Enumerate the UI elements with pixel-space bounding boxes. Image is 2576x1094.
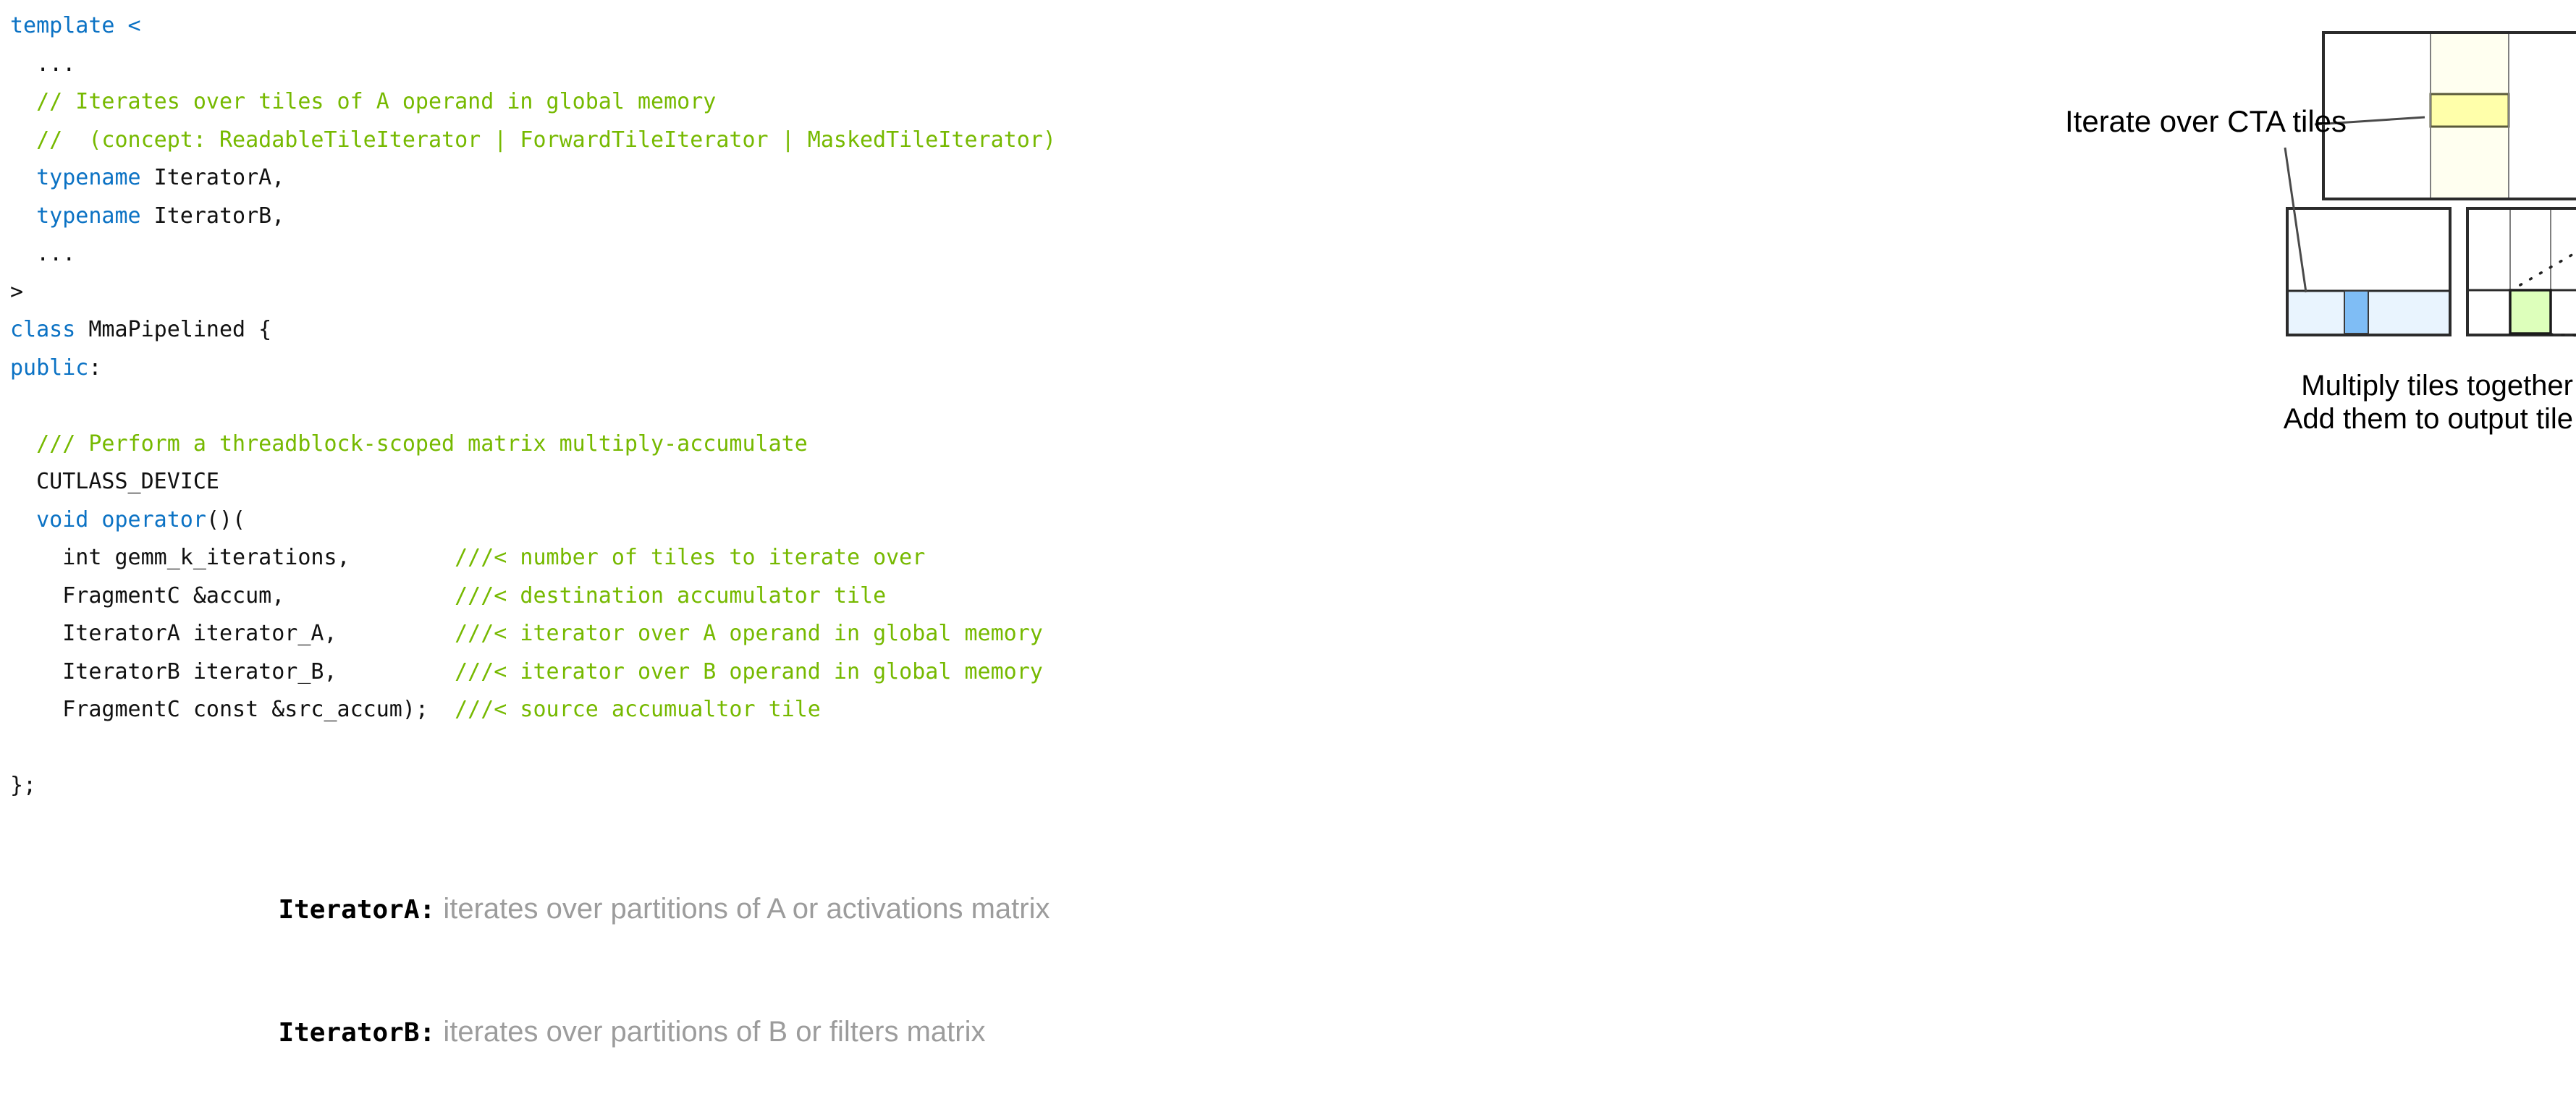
code-token: MmaPipelined { bbox=[75, 317, 271, 342]
gemm-tiling-diagram: Iterate over CTA tiles Multiply tiles to… bbox=[1520, 0, 2576, 988]
code-line: template < bbox=[10, 7, 1530, 46]
legend-key-iterator-a: IteratorA: bbox=[278, 895, 435, 925]
code-line: int gemm_k_iterations, ///< number of ti… bbox=[10, 539, 1530, 577]
code-token bbox=[10, 165, 36, 190]
code-token: // (concept: ReadableTileIterator | Forw… bbox=[10, 127, 1056, 153]
code-token: ()( bbox=[206, 507, 245, 533]
legend-value-iterator-b: iterates over partitions of B or filters… bbox=[435, 1016, 985, 1048]
iterator-legend: IteratorA: iterates over partitions of A… bbox=[246, 848, 1477, 1094]
code-line: typename IteratorA, bbox=[10, 159, 1530, 198]
code-token: ... bbox=[10, 241, 75, 266]
code-line: > bbox=[10, 273, 1530, 312]
code-line: IteratorB iterator_B, ///< iterator over… bbox=[10, 653, 1530, 692]
code-token: ///< destination accumulator tile bbox=[455, 583, 886, 609]
code-line: // (concept: ReadableTileIterator | Forw… bbox=[10, 122, 1530, 160]
output-c-matrix bbox=[2467, 208, 2576, 339]
code-block: template < ... // Iterates over tiles of… bbox=[10, 7, 1530, 810]
code-token: /// Perform a threadblock-scoped matrix … bbox=[10, 431, 808, 457]
code-token: IteratorB, bbox=[141, 203, 285, 229]
code-token: ///< number of tiles to iterate over bbox=[455, 545, 925, 570]
a-operand-matrix bbox=[2287, 208, 2450, 335]
code-line: IteratorA iterator_A, ///< iterator over… bbox=[10, 615, 1530, 653]
code-token: void operator bbox=[36, 507, 206, 533]
code-token: int gemm_k_iterations, bbox=[10, 545, 455, 570]
code-token: ///< iterator over B operand in global m… bbox=[455, 659, 1043, 684]
code-line: void operator()( bbox=[10, 501, 1530, 540]
b-operand-matrix bbox=[2323, 33, 2576, 199]
code-token: > bbox=[10, 279, 23, 305]
annotation-iterate-cta-tiles: Iterate over CTA tiles bbox=[2065, 104, 2347, 138]
caption-multiply-tiles: Multiply tiles together bbox=[2301, 370, 2573, 402]
code-token: FragmentC &accum, bbox=[10, 583, 455, 609]
code-token: class bbox=[10, 317, 75, 342]
code-token bbox=[10, 507, 36, 533]
code-token: ///< source accumualtor tile bbox=[455, 697, 821, 722]
code-token: typename bbox=[36, 165, 141, 190]
code-line: /// Perform a threadblock-scoped matrix … bbox=[10, 425, 1530, 464]
c-output-tile bbox=[2510, 290, 2551, 334]
legend-value-iterator-a: iterates over partitions of A or activat… bbox=[435, 893, 1050, 925]
code-line: ... bbox=[10, 235, 1530, 273]
code-token: template < bbox=[10, 13, 141, 38]
code-line: typename IteratorB, bbox=[10, 198, 1530, 236]
code-line: // Iterates over tiles of A operand in g… bbox=[10, 83, 1530, 122]
code-token: ... bbox=[10, 51, 75, 77]
code-token: IteratorA, bbox=[141, 165, 285, 190]
legend-key-iterator-b: IteratorB: bbox=[278, 1018, 435, 1048]
code-token bbox=[10, 203, 36, 229]
code-token: FragmentC const &src_accum); bbox=[10, 697, 455, 722]
code-line: class MmaPipelined { bbox=[10, 311, 1530, 349]
a-cta-tile bbox=[2344, 291, 2368, 334]
b-cta-tile bbox=[2431, 94, 2509, 127]
caption-add-output-tile: Add them to output tile bbox=[2284, 403, 2573, 435]
code-line: }; bbox=[10, 767, 1530, 805]
code-token: public bbox=[10, 355, 88, 381]
code-line: public: bbox=[10, 349, 1530, 388]
code-token: IteratorA iterator_A, bbox=[10, 621, 455, 646]
code-token: IteratorB iterator_B, bbox=[10, 659, 455, 684]
code-token: : bbox=[88, 355, 101, 381]
code-line bbox=[10, 729, 1530, 768]
code-line bbox=[10, 387, 1530, 425]
legend-row: IteratorA: iterates over partitions of A… bbox=[246, 848, 1477, 971]
code-token: }; bbox=[10, 773, 36, 798]
code-token: CUTLASS_DEVICE bbox=[10, 469, 219, 494]
code-line: ... bbox=[10, 46, 1530, 84]
code-line: FragmentC &accum, ///< destination accum… bbox=[10, 577, 1530, 616]
code-line: FragmentC const &src_accum); ///< source… bbox=[10, 691, 1530, 729]
code-token: typename bbox=[36, 203, 141, 229]
code-token: // Iterates over tiles of A operand in g… bbox=[10, 89, 716, 114]
legend-row: IteratorB: iterates over partitions of B… bbox=[246, 971, 1477, 1094]
code-token: ///< iterator over A operand in global m… bbox=[455, 621, 1043, 646]
code-line: CUTLASS_DEVICE bbox=[10, 463, 1530, 501]
